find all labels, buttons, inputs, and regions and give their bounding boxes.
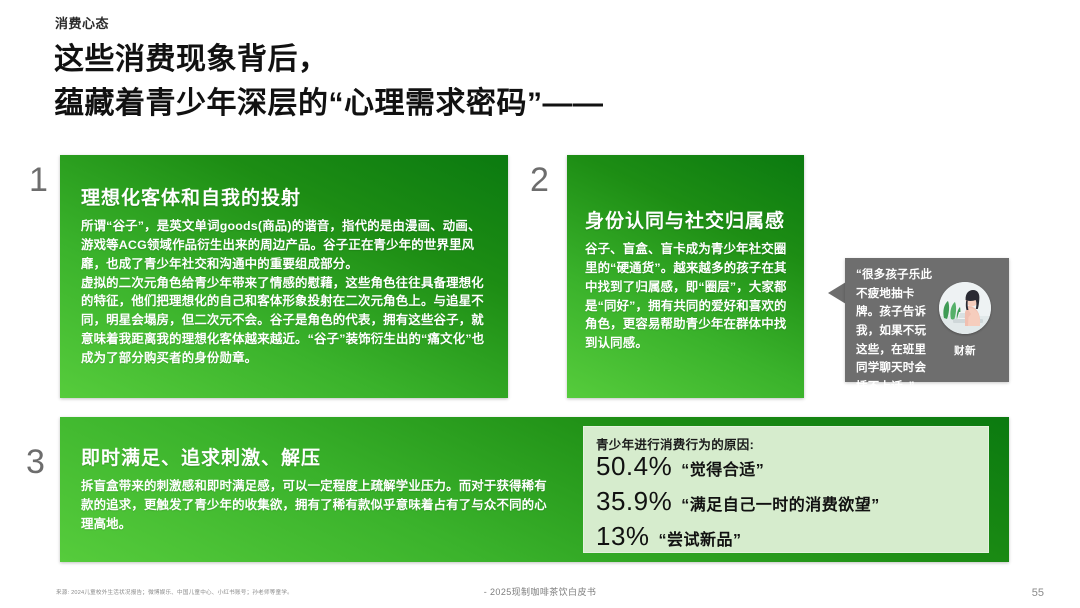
footer-document-title: - 2025现制咖啡茶饮白皮书 (0, 585, 1080, 598)
quote-author-block: 财新 (935, 282, 995, 358)
stat-value: 13% (596, 521, 650, 552)
insight-card-1-title: 理想化客体和自我的投射 (81, 188, 301, 211)
page-title: 这些消费现象背后， 蕴藏着青少年深层的“心理需求密码”—— (54, 38, 604, 126)
quote-text: “很多孩子乐此不疲地抽卡牌。孩子告诉我，如果不玩这些，在班里同学聊天时会插不上话… (856, 266, 934, 396)
step-number-1: 1 (29, 163, 48, 197)
stat-label: “觉得合适” (681, 456, 764, 480)
stat-row: 35.9% “满足自己一时的消费欲望” (596, 486, 880, 517)
insight-card-1[interactable]: 理想化客体和自我的投射 所谓“谷子”，是英文单词goods(商品)的谐音，指代的… (60, 155, 508, 398)
quote-author-name: 财新 (935, 343, 995, 358)
page-title-line-2: 蕴藏着青少年深层的“心理需求密码”—— (54, 82, 604, 126)
insight-card-3-body: 拆盲盒带来的刺激感和即时满足感，可以一定程度上疏解学业压力。而对于获得稀有款的追… (81, 477, 551, 534)
stat-label: “满足自己一时的消费欲望” (681, 491, 880, 515)
insight-card-1-body: 所谓“谷子”，是英文单词goods(商品)的谐音，指代的是由漫画、动画、游戏等A… (81, 217, 485, 368)
stats-panel: 青少年进行消费行为的原因: 50.4% “觉得合适” 35.9% “满足自己一时… (583, 426, 989, 553)
stat-value: 50.4% (596, 451, 672, 482)
quote-bubble-tail-icon (828, 282, 846, 304)
insight-card-3[interactable]: 即时满足、追求刺激、解压 拆盲盒带来的刺激感和即时满足感，可以一定程度上疏解学业… (60, 417, 1009, 562)
stat-row: 13% “尝试新品” (596, 521, 742, 552)
page-number: 55 (1032, 587, 1044, 599)
step-number-3: 3 (26, 445, 45, 479)
insight-card-2[interactable]: 身份认同与社交归属感 谷子、盲盒、盲卡成为青少年社交圈里的“硬通货”。越来越多的… (567, 155, 804, 398)
quote-bubble: “很多孩子乐此不疲地抽卡牌。孩子告诉我，如果不玩这些，在班里同学聊天时会插不上话… (845, 258, 1009, 382)
page-title-line-1: 这些消费现象背后， (54, 38, 604, 82)
step-number-2: 2 (530, 163, 549, 197)
avatar (939, 282, 991, 334)
insight-card-3-title: 即时满足、追求刺激、解压 (81, 448, 321, 471)
stat-value: 35.9% (596, 486, 672, 517)
insight-card-2-body: 谷子、盲盒、盲卡成为青少年社交圈里的“硬通货”。越来越多的孩子在其中找到了归属感… (585, 240, 788, 353)
insight-card-2-title: 身份认同与社交归属感 (585, 211, 785, 234)
stat-label: “尝试新品” (659, 526, 742, 550)
stat-row: 50.4% “觉得合适” (596, 451, 764, 482)
section-eyebrow: 消费心态 (55, 13, 109, 32)
